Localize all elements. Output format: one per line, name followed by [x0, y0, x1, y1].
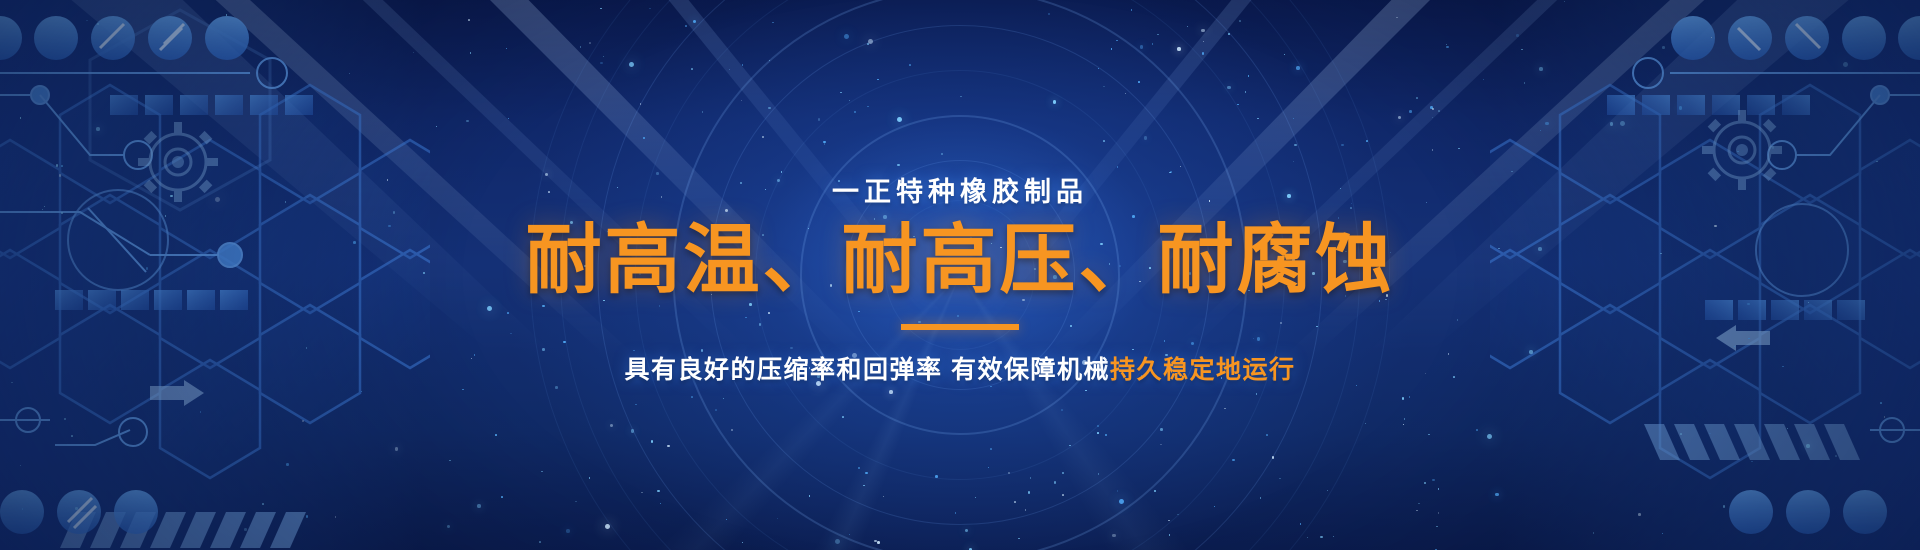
banner-divider: [901, 324, 1019, 330]
banner-subtitle-white: 具有良好的压缩率和回弹率 有效保障机械: [625, 356, 1110, 384]
banner-headline: 耐高温、耐高压、耐腐蚀: [526, 221, 1395, 301]
banner-content: 一正特种橡胶制品 耐高温、耐高压、耐腐蚀 具有良好的压缩率和回弹率 有效保障机械…: [0, 0, 1920, 550]
banner-subtitle-orange: 持久稳定地运行: [1110, 356, 1296, 384]
hero-banner: 一正特种橡胶制品 耐高温、耐高压、耐腐蚀 具有良好的压缩率和回弹率 有效保障机械…: [0, 0, 1920, 550]
banner-subtitle: 具有良好的压缩率和回弹率 有效保障机械持久稳定地运行: [625, 350, 1296, 386]
banner-eyebrow: 一正特种橡胶制品: [832, 170, 1088, 209]
